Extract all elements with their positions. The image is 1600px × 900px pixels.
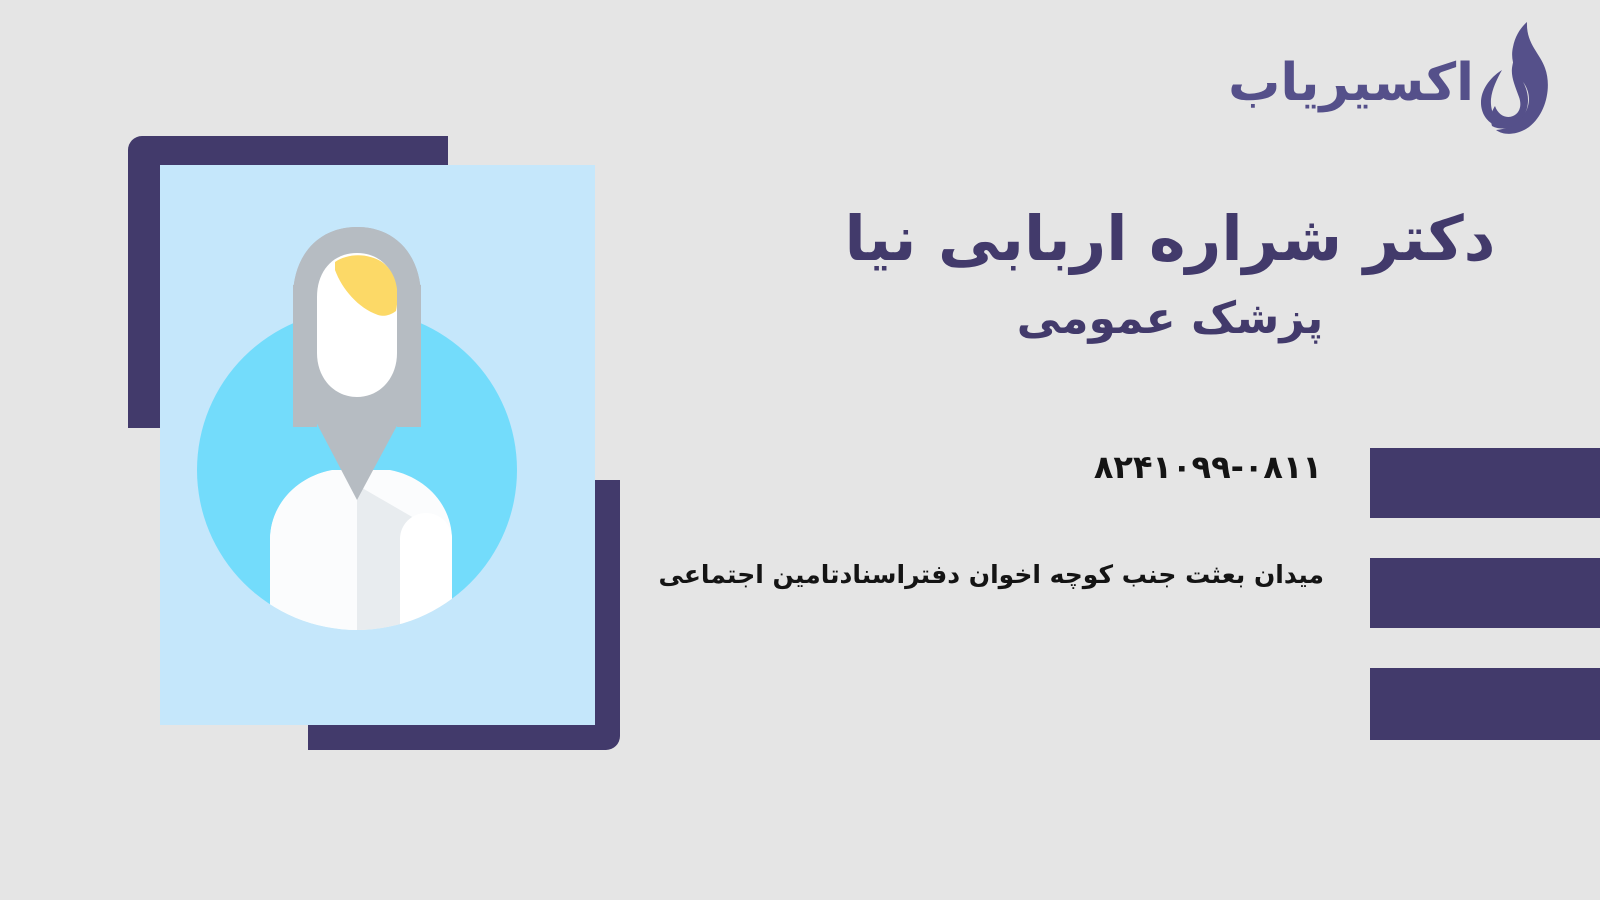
profile-info: دکتر شراره اربابی نیا پزشک عمومی (810, 200, 1530, 347)
flame-icon (1480, 20, 1552, 138)
doctor-illustration (0, 0, 700, 900)
doctor-name: دکتر شراره اربابی نیا (810, 200, 1530, 278)
phone-number[interactable]: ۸۲۴۱۰۹۹-۰۸۱۱ (1094, 448, 1322, 486)
clinic-address: میدان بعثت جنب کوچه اخوان دفتراسنادتامین… (764, 558, 1324, 592)
brand-name: اکسیریاب (1228, 57, 1474, 109)
doctor-profile-card: اکسیریاب دکتر شراره اربابی نیا پزشک عموم… (0, 0, 1600, 900)
decor-bar-1 (1370, 448, 1600, 518)
decor-bar-3 (1370, 668, 1600, 740)
female-doctor-avatar-icon (160, 165, 595, 725)
decor-bar-2 (1370, 558, 1600, 628)
brand-logo[interactable]: اکسیریاب (1228, 20, 1552, 138)
photo-card (160, 165, 595, 725)
doctor-specialty: پزشک عمومی (810, 290, 1530, 347)
